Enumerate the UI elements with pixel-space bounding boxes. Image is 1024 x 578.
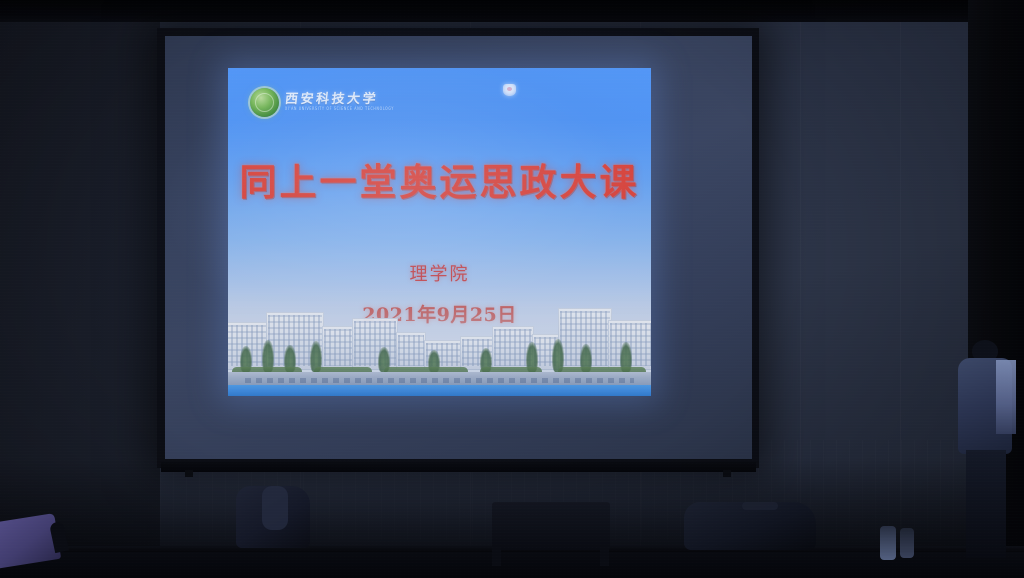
standing-person [956,340,1018,560]
left-wall [0,22,160,578]
screen-foot [723,470,731,477]
slide-title: 同上一堂奥运思政大课 [228,164,651,201]
duffel-bag-right-handle [742,502,778,510]
small-white-graphic-icon [503,84,516,96]
small-object-right [880,526,896,560]
ceiling [0,0,1024,24]
chair-center-leg [600,544,609,566]
chair-center-leg [492,544,501,566]
wall-panel-seam [900,22,901,578]
logo-name-en: XI'AN UNIVERSITY OF SCIENCE AND TECHNOLO… [285,108,394,112]
campus-plaza-detail [245,378,634,383]
campus-building [396,332,426,370]
small-object-right-neighbor [900,528,914,558]
person-legs [966,450,1006,558]
university-seal-icon [250,88,279,117]
logo-wordmark: 西安科技大学 XI'AN UNIVERSITY OF SCIENCE AND T… [285,93,394,111]
screen-bottom-bar [161,462,756,472]
backpack-left-strap [262,486,288,530]
screen-foot [185,470,193,477]
chair-center [492,502,610,550]
wall-panel-seam [800,22,801,578]
person-sleeve-highlight [996,360,1016,434]
campus-water [228,385,651,396]
logo-name-cn: 西安科技大学 [284,93,394,106]
presentation-slide[interactable]: 西安科技大学 XI'AN UNIVERSITY OF SCIENCE AND T… [228,68,651,396]
floor [0,550,1024,578]
campus-building [352,318,398,370]
scene-root: 西安科技大学 XI'AN UNIVERSITY OF SCIENCE AND T… [0,0,1024,578]
university-logo: 西安科技大学 XI'AN UNIVERSITY OF SCIENCE AND T… [250,88,394,117]
slide-subtitle: 理学院 [228,266,651,284]
campus-building [322,326,356,370]
campus-photograph [228,288,651,396]
